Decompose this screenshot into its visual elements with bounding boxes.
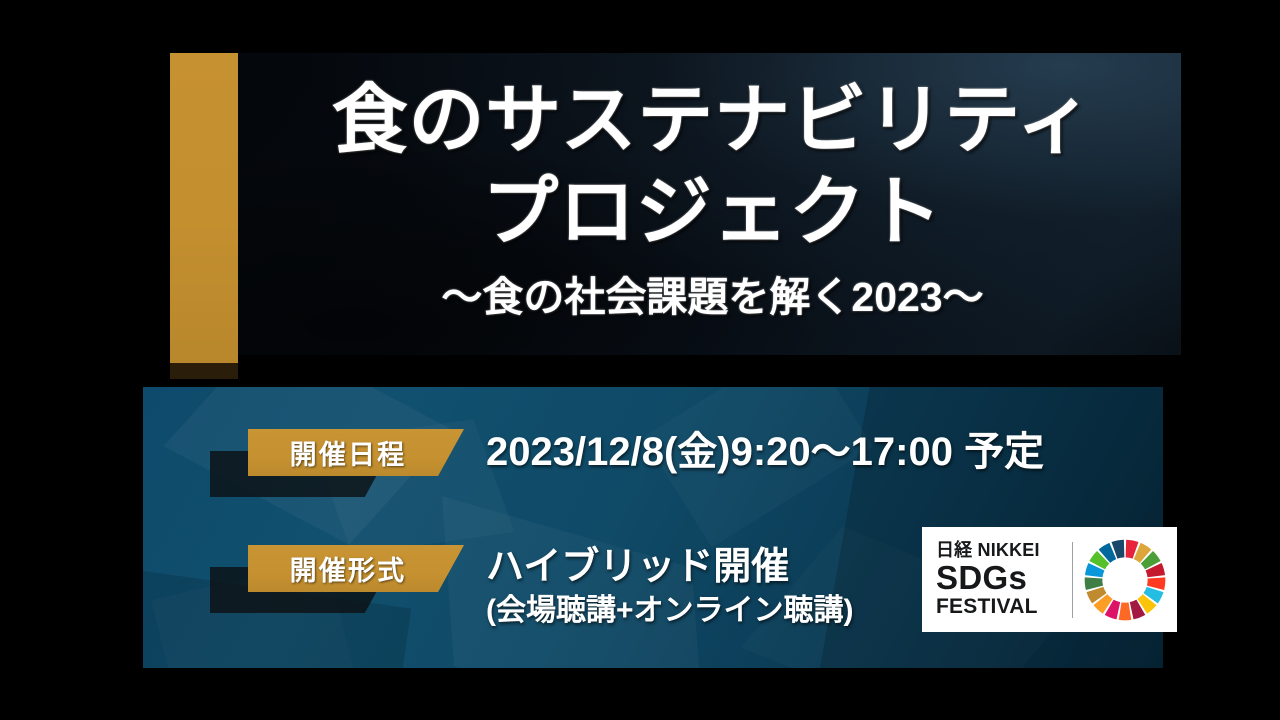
logo-line-sdgs: SDGs — [936, 561, 1070, 595]
format-value-sub: (会場聴講+オンライン聴講) — [486, 591, 854, 631]
date-tag: 開催日程 — [248, 429, 464, 476]
format-tag: 開催形式 — [248, 545, 464, 592]
sdg-wheel-segment — [1119, 602, 1132, 620]
logo-wordmark: 日経 NIKKEI SDGs FESTIVAL — [922, 541, 1070, 618]
title-text-group: 食のサステナビリティ プロジェクト 〜食の社会課題を解く2023〜 — [170, 53, 1181, 355]
nikkei-sdgs-festival-logo: 日経 NIKKEI SDGs FESTIVAL — [922, 527, 1177, 632]
poster-canvas: 食のサステナビリティ プロジェクト 〜食の社会課題を解く2023〜 開催日程 2… — [0, 0, 1280, 720]
logo-line-festival: FESTIVAL — [936, 596, 1070, 618]
format-tag-label: 開催形式 — [290, 549, 407, 588]
gold-bar-shadow — [170, 363, 238, 379]
info-row-date: 開催日程 2023/12/8(金)9:20〜17:00 予定 — [248, 429, 1044, 476]
title-line-2: プロジェクト — [482, 175, 943, 251]
date-tag-wrap: 開催日程 — [248, 429, 464, 476]
logo-line-nikkei: 日経 NIKKEI — [936, 541, 1070, 560]
info-row-format: 開催形式 ハイブリッド開催 (会場聴講+オンライン聴講) — [248, 545, 854, 631]
title-line-1: 食のサステナビリティ — [332, 83, 1094, 159]
format-tag-wrap: 開催形式 — [248, 545, 464, 592]
format-value-group: ハイブリッド開催 (会場聴講+オンライン聴講) — [464, 545, 854, 631]
title-panel: 食のサステナビリティ プロジェクト 〜食の社会課題を解く2023〜 — [170, 53, 1181, 355]
subtitle: 〜食の社会課題を解く2023〜 — [441, 277, 983, 318]
format-value-main: ハイブリッド開催 — [486, 545, 854, 589]
sdg-color-wheel-icon — [1083, 538, 1167, 622]
date-tag-label: 開催日程 — [290, 433, 407, 472]
logo-divider — [1072, 542, 1073, 618]
date-value: 2023/12/8(金)9:20〜17:00 予定 — [486, 429, 1044, 476]
